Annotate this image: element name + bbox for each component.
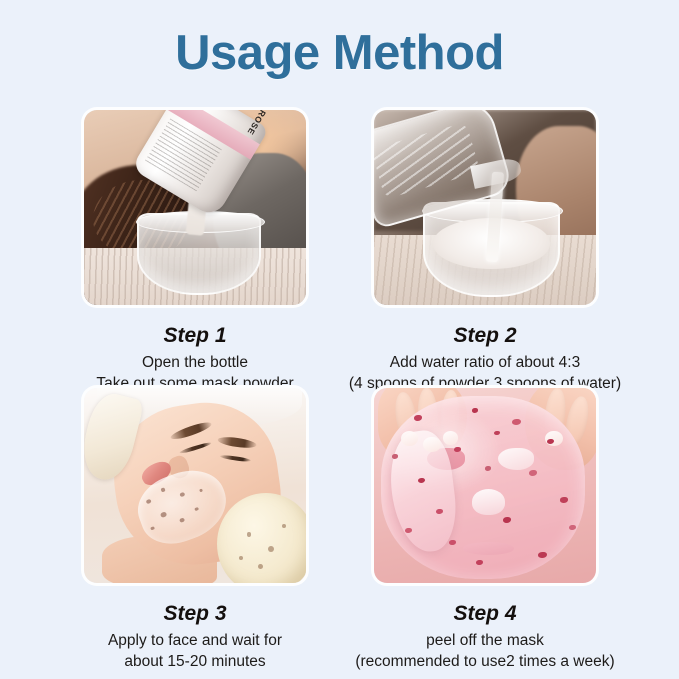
steps-grid: BULGARIAN ROSE Step 1 Open the bottle Ta… bbox=[84, 110, 596, 665]
step-1-photo: BULGARIAN ROSE bbox=[84, 110, 306, 305]
rose-petal-fleck bbox=[454, 447, 461, 452]
rose-petal-fleck bbox=[476, 560, 483, 565]
step-card-2: Step 2 Add water ratio of about 4:3 (4 s… bbox=[374, 110, 596, 394]
eyebrow-left bbox=[170, 420, 213, 442]
petal-fleck bbox=[282, 524, 286, 528]
petal-fleck bbox=[194, 507, 198, 511]
step-4-label: Step 4 bbox=[374, 602, 596, 625]
step-4-photo bbox=[374, 388, 596, 583]
step-2-photo bbox=[374, 110, 596, 305]
step-3-label: Step 3 bbox=[84, 602, 306, 625]
step-card-4: Step 4 peel off the mask (recommended to… bbox=[374, 388, 596, 672]
rose-petal-fleck bbox=[472, 408, 479, 413]
closed-eye-left bbox=[179, 440, 212, 454]
page-title: Usage Method bbox=[0, 28, 679, 79]
step-3-description: Apply to face and wait for about 15-20 m… bbox=[62, 631, 328, 672]
fingernail bbox=[443, 431, 459, 445]
rose-petal-fleck bbox=[503, 517, 511, 523]
step-card-1: BULGARIAN ROSE Step 1 Open the bottle Ta… bbox=[84, 110, 306, 394]
step-1-label: Step 1 bbox=[84, 324, 306, 347]
rose-petal-fleck bbox=[485, 466, 491, 471]
step-4-description: peel off the mask (recommended to use2 t… bbox=[340, 631, 630, 672]
mask-nose-hole bbox=[472, 489, 505, 514]
petal-fleck bbox=[239, 556, 243, 560]
rose-petal-fleck bbox=[392, 454, 398, 459]
petal-fleck bbox=[258, 564, 263, 569]
petal-fleck bbox=[199, 488, 203, 492]
eyebrow-right bbox=[218, 435, 258, 449]
petal-fleck bbox=[146, 498, 152, 503]
petal-fleck bbox=[150, 526, 154, 530]
closed-eye-right bbox=[220, 453, 252, 462]
rose-petal-fleck bbox=[538, 552, 546, 558]
petal-fleck bbox=[179, 492, 185, 497]
step-2-label: Step 2 bbox=[374, 324, 596, 347]
mask-mouth-hole bbox=[463, 542, 514, 555]
petal-fleck bbox=[268, 546, 274, 552]
rose-petal-fleck bbox=[569, 525, 576, 530]
usage-method-infographic: Usage Method BULGARIAN ROSE Step 1 bbox=[0, 0, 679, 679]
mask-bowl bbox=[217, 493, 306, 583]
glass-highlight bbox=[374, 122, 480, 200]
mask-eye-hole-right bbox=[498, 448, 534, 469]
step-3-photo bbox=[84, 388, 306, 583]
rose-petal-fleck bbox=[436, 509, 443, 514]
bottle-label-text: BULGARIAN ROSE bbox=[245, 110, 300, 137]
rose-petal-fleck bbox=[494, 431, 500, 435]
petal-fleck bbox=[161, 488, 165, 492]
petal-fleck bbox=[179, 518, 185, 523]
step-card-3: Step 3 Apply to face and wait for about … bbox=[84, 388, 306, 672]
petal-fleck bbox=[160, 511, 167, 517]
fingernail bbox=[423, 437, 441, 453]
petal-fleck bbox=[247, 532, 252, 537]
rose-petal-fleck bbox=[560, 497, 568, 502]
